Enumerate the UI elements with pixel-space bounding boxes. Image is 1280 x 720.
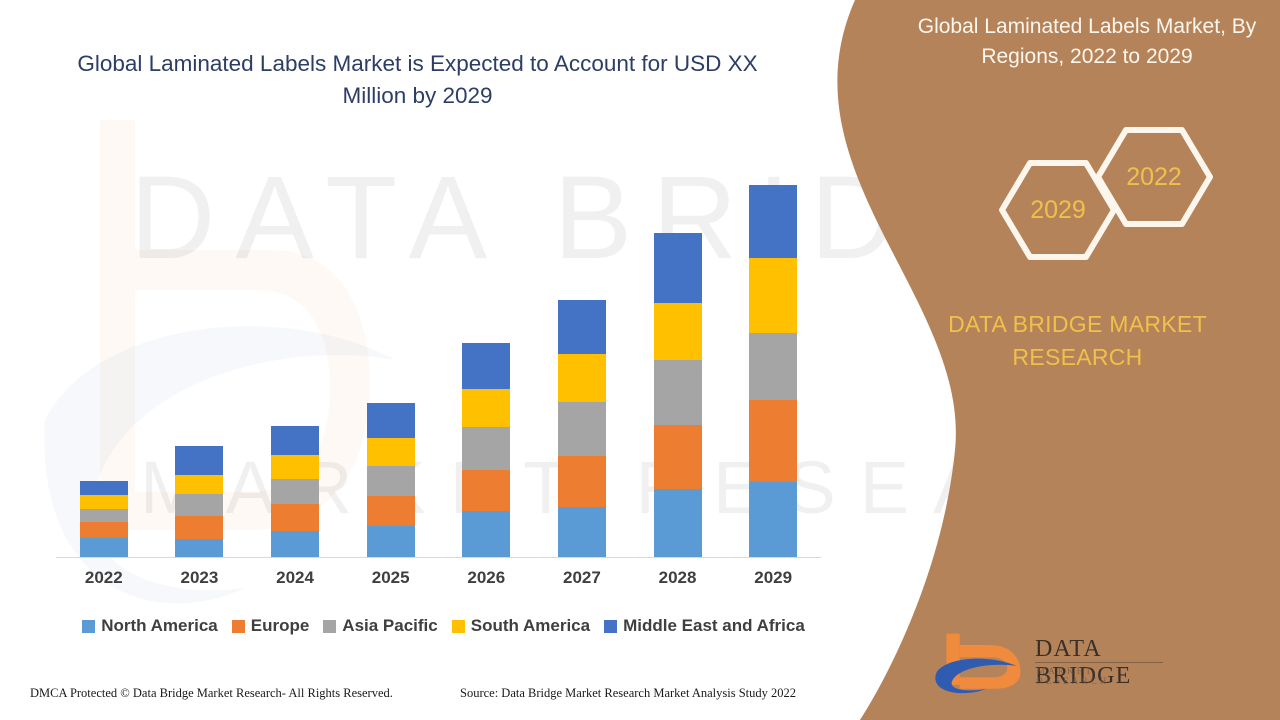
- bar-segment[interactable]: [367, 403, 415, 437]
- bar-segment[interactable]: [558, 300, 606, 354]
- legend-swatch-icon: [323, 620, 336, 633]
- hex-badge-group: 2022 2029: [990, 115, 1220, 290]
- x-axis-label-2025: 2025: [343, 568, 439, 588]
- bar-segment[interactable]: [175, 446, 223, 475]
- bar-segment[interactable]: [80, 481, 128, 495]
- bar-segment[interactable]: [654, 489, 702, 557]
- x-axis-label-2023: 2023: [152, 568, 248, 588]
- bar-segment[interactable]: [175, 494, 223, 516]
- chart-legend: North AmericaEuropeAsia PacificSouth Ame…: [56, 616, 831, 636]
- bar-segment[interactable]: [175, 539, 223, 557]
- bar-segment[interactable]: [749, 333, 797, 400]
- stacked-bar-2027[interactable]: [558, 300, 606, 557]
- bar-segment[interactable]: [749, 400, 797, 482]
- bar-segment[interactable]: [462, 389, 510, 427]
- bar-segment[interactable]: [271, 426, 319, 455]
- bar-segment[interactable]: [271, 479, 319, 504]
- bar-slot: [247, 150, 343, 557]
- bar-segment[interactable]: [462, 427, 510, 470]
- bar-slot: [534, 150, 630, 557]
- chart-plot-area: [56, 150, 821, 558]
- logo-tagline: MARKET RESEARCH: [1037, 666, 1170, 686]
- slide-canvas: DATA BRIDGE MARKET RESEARCH Global Lamin…: [0, 0, 1280, 720]
- bar-segment[interactable]: [80, 509, 128, 522]
- brand-name: DATA BRIDGE MARKET RESEARCH: [880, 308, 1275, 373]
- x-axis-label-2022: 2022: [56, 568, 152, 588]
- bar-segment[interactable]: [175, 516, 223, 539]
- stacked-bar-2026[interactable]: [462, 343, 510, 557]
- x-axis-label-2024: 2024: [247, 568, 343, 588]
- x-axis-labels: 20222023202420252026202720282029: [56, 568, 821, 588]
- bar-segment[interactable]: [462, 343, 510, 389]
- chart-title: Global Laminated Labels Market is Expect…: [60, 48, 775, 112]
- stacked-bar-2024[interactable]: [271, 426, 319, 557]
- bar-segment[interactable]: [654, 233, 702, 303]
- bar-segment[interactable]: [654, 425, 702, 489]
- bar-segment[interactable]: [558, 456, 606, 507]
- stacked-bar-2028[interactable]: [654, 233, 702, 557]
- bar-segment[interactable]: [367, 526, 415, 557]
- hex-badge-2029-label: 2029: [1030, 196, 1086, 224]
- x-axis-label-2028: 2028: [630, 568, 726, 588]
- stacked-bar-2025[interactable]: [367, 403, 415, 557]
- bar-segment[interactable]: [271, 531, 319, 557]
- legend-swatch-icon: [452, 620, 465, 633]
- legend-label: Asia Pacific: [342, 616, 437, 636]
- x-axis-line: [56, 557, 821, 558]
- logo-divider: [1035, 662, 1163, 663]
- bar-segment[interactable]: [175, 475, 223, 494]
- bar-slot: [630, 150, 726, 557]
- bar-segment[interactable]: [558, 507, 606, 557]
- bar-segment[interactable]: [749, 482, 797, 557]
- x-axis-label-2026: 2026: [439, 568, 535, 588]
- data-bridge-logo: DATA BRIDGE MARKET RESEARCH: [935, 628, 1170, 703]
- stacked-bar-2023[interactable]: [175, 446, 223, 557]
- bar-slot: [439, 150, 535, 557]
- bar-segment[interactable]: [80, 495, 128, 509]
- legend-swatch-icon: [82, 620, 95, 633]
- bar-segment[interactable]: [749, 185, 797, 258]
- footer-copyright: DMCA Protected © Data Bridge Market Rese…: [30, 686, 393, 701]
- legend-item-middle-east-and-africa[interactable]: Middle East and Africa: [604, 616, 805, 636]
- legend-label: Europe: [251, 616, 310, 636]
- logo-mark-icon: [935, 628, 1030, 700]
- x-axis-label-2029: 2029: [725, 568, 821, 588]
- bar-segment[interactable]: [271, 455, 319, 479]
- legend-item-north-america[interactable]: North America: [82, 616, 218, 636]
- bar-segment[interactable]: [558, 354, 606, 402]
- legend-swatch-icon: [604, 620, 617, 633]
- bar-segment[interactable]: [367, 496, 415, 526]
- bar-segment[interactable]: [749, 258, 797, 333]
- footer-source: Source: Data Bridge Market Research Mark…: [460, 686, 796, 701]
- legend-swatch-icon: [232, 620, 245, 633]
- bar-segment[interactable]: [462, 511, 510, 557]
- bar-segment[interactable]: [80, 522, 128, 538]
- right-panel-title: Global Laminated Labels Market, By Regio…: [892, 12, 1280, 73]
- bar-slot: [56, 150, 152, 557]
- legend-label: North America: [101, 616, 218, 636]
- bar-segment[interactable]: [367, 466, 415, 496]
- bar-slot: [725, 150, 821, 557]
- right-panel-content: Global Laminated Labels Market, By Regio…: [860, 0, 1280, 720]
- legend-label: South America: [471, 616, 590, 636]
- bar-segment[interactable]: [367, 438, 415, 466]
- stacked-bar-2029[interactable]: [749, 185, 797, 557]
- bar-segment[interactable]: [462, 470, 510, 511]
- hex-badges-svg: 2022 2029: [990, 115, 1220, 290]
- bar-slot: [152, 150, 248, 557]
- bar-segment[interactable]: [654, 303, 702, 359]
- legend-label: Middle East and Africa: [623, 616, 805, 636]
- stacked-bar-group: [56, 150, 821, 557]
- hex-badge-2022-label: 2022: [1126, 163, 1182, 191]
- bar-segment[interactable]: [271, 504, 319, 531]
- x-axis-label-2027: 2027: [534, 568, 630, 588]
- bar-segment[interactable]: [558, 402, 606, 456]
- stacked-bar-2022[interactable]: [80, 481, 128, 557]
- bar-segment[interactable]: [654, 360, 702, 425]
- legend-item-asia-pacific[interactable]: Asia Pacific: [323, 616, 437, 636]
- legend-item-south-america[interactable]: South America: [452, 616, 590, 636]
- legend-item-europe[interactable]: Europe: [232, 616, 310, 636]
- bar-slot: [343, 150, 439, 557]
- bar-segment[interactable]: [80, 538, 128, 557]
